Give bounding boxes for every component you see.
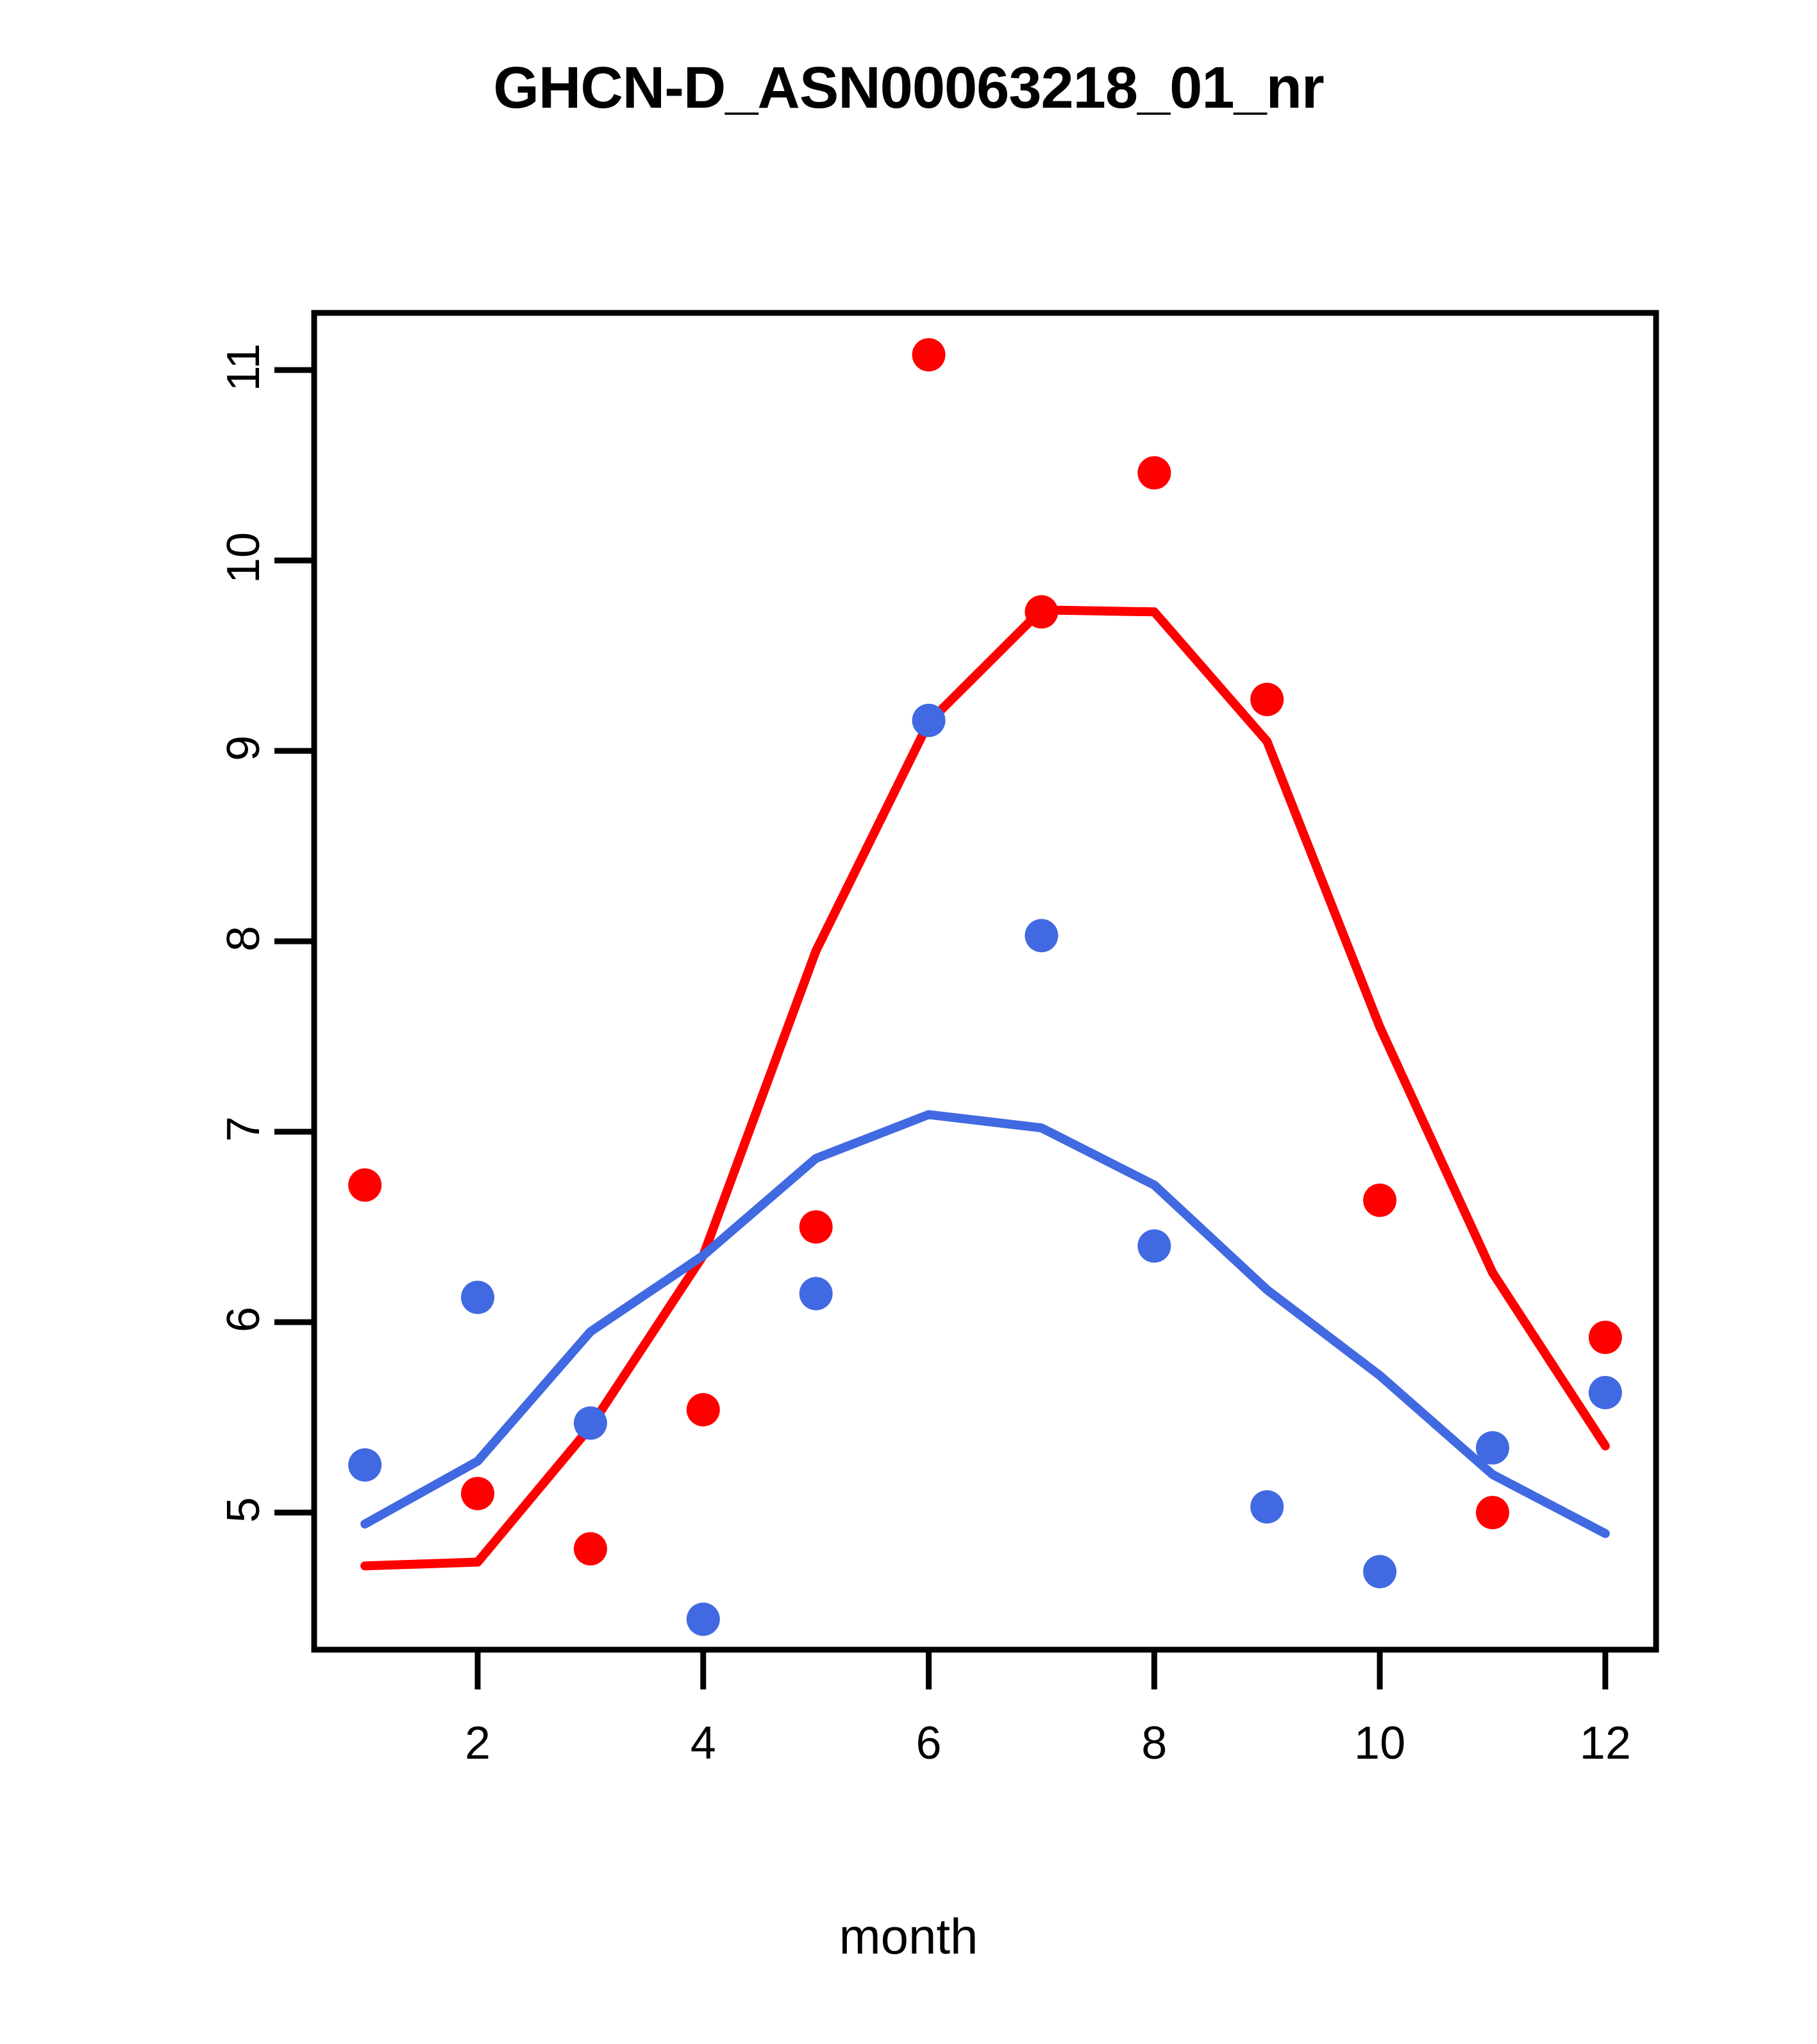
data-point-blue-points xyxy=(687,1602,720,1636)
data-point-blue-points xyxy=(1363,1555,1396,1588)
plot-frame xyxy=(314,313,1656,1650)
data-point-red-points xyxy=(912,338,946,371)
data-point-red-points xyxy=(1137,456,1171,489)
series-points xyxy=(348,338,1622,1636)
x-tick-label-8: 8 xyxy=(1116,1717,1193,1770)
series-line-red-line xyxy=(365,610,1605,1566)
data-point-blue-points xyxy=(912,704,946,737)
plot-border xyxy=(314,313,1656,1650)
data-point-red-points xyxy=(1250,683,1284,716)
data-point-blue-points xyxy=(1476,1431,1509,1464)
y-tick-label-9: 9 xyxy=(217,700,270,796)
y-tick-label-7: 7 xyxy=(217,1081,270,1177)
data-point-red-points xyxy=(461,1477,494,1510)
data-point-blue-points xyxy=(574,1407,607,1440)
data-point-red-points xyxy=(1363,1184,1396,1217)
data-point-red-points xyxy=(800,1210,833,1244)
y-tick-label-5: 5 xyxy=(217,1462,270,1558)
y-tick-label-6: 6 xyxy=(217,1271,270,1368)
x-tick-label-12: 12 xyxy=(1567,1717,1644,1770)
data-point-blue-points xyxy=(1250,1490,1284,1523)
data-point-red-points xyxy=(1025,595,1058,628)
chart-page: GHCN-D_ASN00063218_01_nr month 24681012 … xyxy=(0,0,1817,2044)
x-tick-label-10: 10 xyxy=(1341,1717,1418,1770)
data-point-red-points xyxy=(574,1532,607,1566)
x-tick-label-4: 4 xyxy=(665,1717,742,1770)
data-point-blue-points xyxy=(348,1448,381,1482)
data-point-red-points xyxy=(1589,1321,1622,1354)
x-axis-title: month xyxy=(0,1907,1817,1966)
data-point-red-points xyxy=(348,1168,381,1202)
data-point-red-points xyxy=(687,1393,720,1427)
data-point-blue-points xyxy=(1137,1229,1171,1262)
data-point-blue-points xyxy=(800,1277,833,1311)
data-point-blue-points xyxy=(461,1281,494,1314)
y-tick-label-8: 8 xyxy=(217,891,270,987)
data-point-blue-points xyxy=(1589,1376,1622,1409)
y-tick-label-10: 10 xyxy=(217,510,270,606)
y-tick-label-11: 11 xyxy=(217,319,270,415)
x-tick-label-6: 6 xyxy=(891,1717,967,1770)
data-point-blue-points xyxy=(1025,919,1058,952)
x-tick-label-2: 2 xyxy=(439,1717,516,1770)
series-lines xyxy=(365,610,1605,1566)
data-point-red-points xyxy=(1476,1496,1509,1529)
